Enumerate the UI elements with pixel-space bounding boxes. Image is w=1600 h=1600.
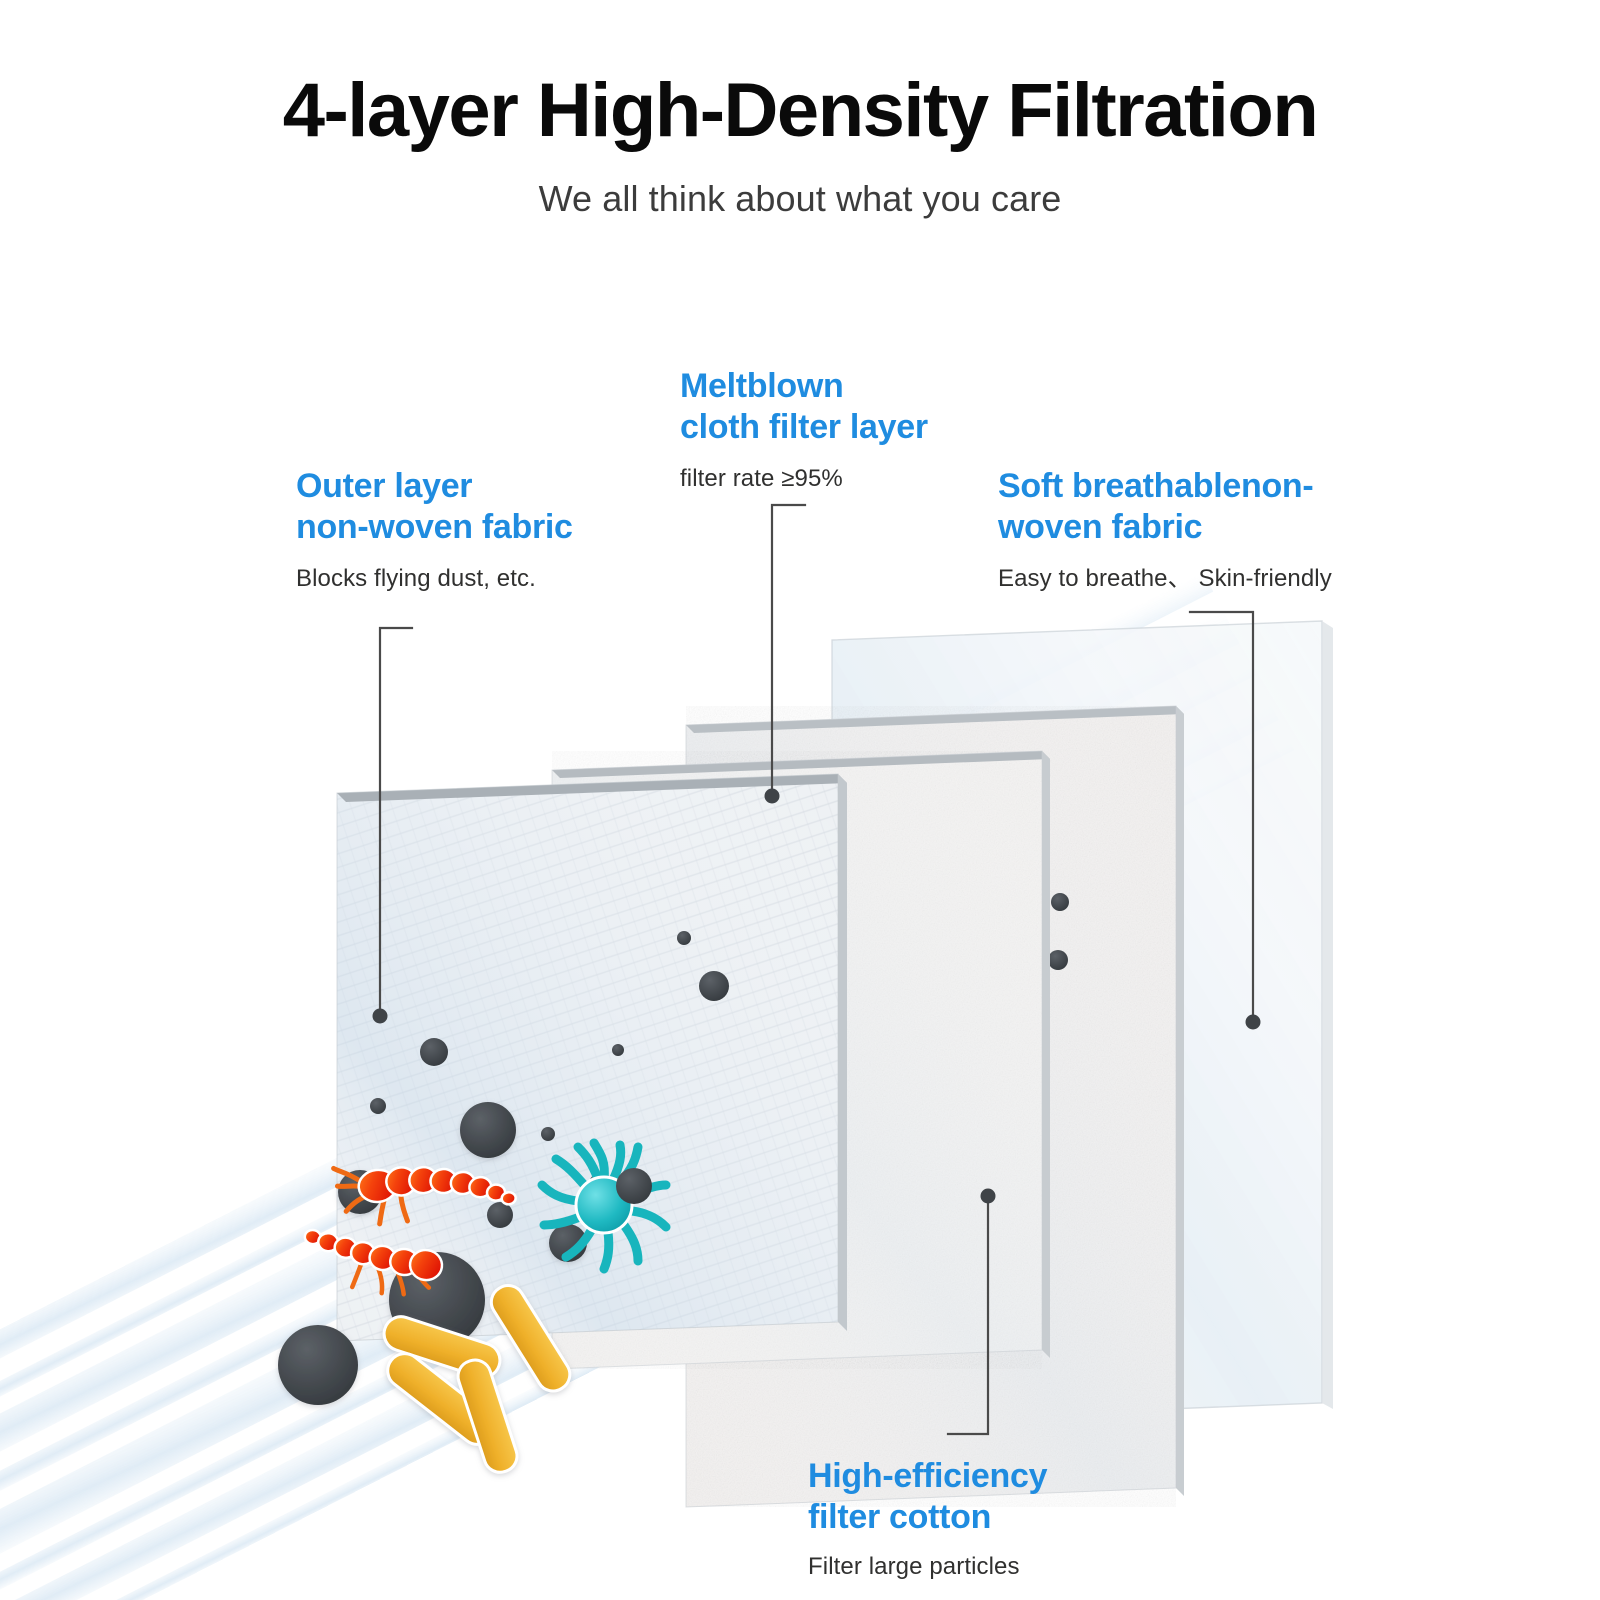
callout-subtitle-soft-breathable: Easy to breathe、 Skin-friendly bbox=[998, 549, 1332, 594]
layer-diagram bbox=[0, 0, 1600, 1600]
callout-filter-cotton: High-efficiency filter cotton Filter lar… bbox=[808, 1456, 1047, 1582]
callout-meltblown: Meltblown cloth filter layer filter rate… bbox=[680, 366, 928, 494]
callout-title-filter-cotton: High-efficiency filter cotton bbox=[808, 1456, 1047, 1539]
callout-subtitle-meltblown: filter rate ≥95% bbox=[680, 449, 928, 494]
callout-subtitle-outer-layer: Blocks flying dust, etc. bbox=[296, 549, 573, 594]
callout-outer-layer: Outer layer non-woven fabric Blocks flyi… bbox=[296, 466, 573, 594]
callout-title-meltblown: Meltblown cloth filter layer bbox=[680, 366, 928, 449]
callout-subtitle-filter-cotton: Filter large particles bbox=[808, 1539, 1047, 1582]
callout-title-outer-layer: Outer layer non-woven fabric bbox=[296, 466, 573, 549]
callout-title-soft-breathable: Soft breathablenon- woven fabric bbox=[998, 466, 1332, 549]
dust-particle bbox=[278, 1325, 358, 1405]
callout-soft-breathable: Soft breathablenon- woven fabric Easy to… bbox=[998, 466, 1332, 594]
infographic-canvas: 4-layer High-Density Filtration We all t… bbox=[0, 0, 1600, 1600]
